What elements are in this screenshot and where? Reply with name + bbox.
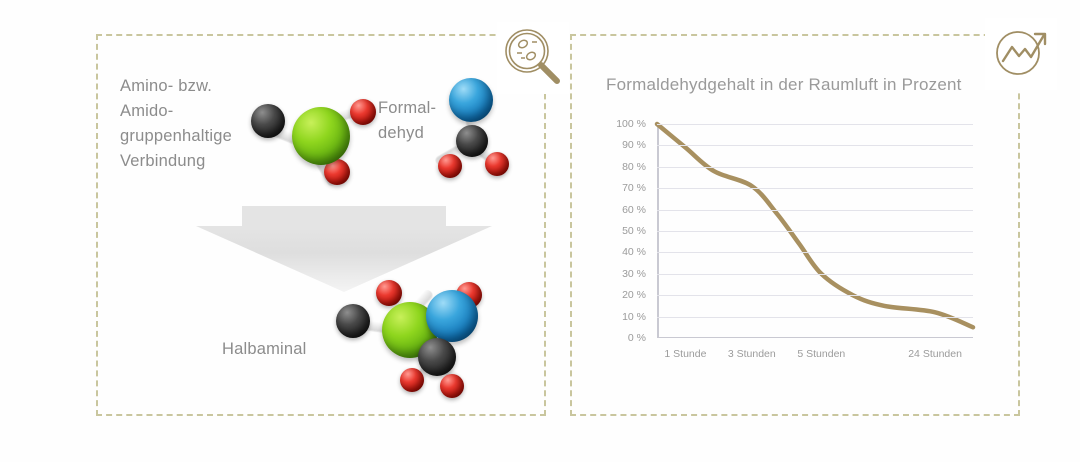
- gridline: [657, 317, 973, 318]
- magnifier-molecule-icon: [497, 22, 569, 94]
- y-axis-tick: 40 %: [602, 246, 646, 258]
- y-axis-tick: 100 %: [602, 118, 646, 130]
- gridline: [657, 231, 973, 232]
- line-chart: 100 %90 %80 %70 %60 %50 %40 %30 %20 %10 …: [598, 124, 998, 364]
- gridline: [657, 167, 973, 168]
- y-axis-tick: 0 %: [602, 332, 646, 344]
- y-axis-tick: 30 %: [602, 268, 646, 280]
- x-axis-tick: 24 Stunden: [908, 348, 962, 360]
- slide-canvas: Amino- bzw. Amido- gruppenhaltige Verbin…: [0, 0, 1080, 462]
- y-axis-tick: 20 %: [602, 289, 646, 301]
- chart-title: Formaldehydgehalt in der Raumluft in Pro…: [606, 75, 962, 95]
- gridline: [657, 252, 973, 253]
- gridline: [657, 188, 973, 189]
- halbaminal-molecule: [330, 276, 505, 401]
- gridline: [657, 124, 973, 125]
- y-axis-tick: 60 %: [602, 204, 646, 216]
- trend-up-circle-icon: [985, 18, 1057, 90]
- y-axis-labels: 100 %90 %80 %70 %60 %50 %40 %30 %20 %10 …: [598, 124, 646, 338]
- y-axis-tick: 50 %: [602, 225, 646, 237]
- gridline: [657, 145, 973, 146]
- x-axis-labels: 1 Stunde3 Stunden5 Stunden24 Stunden: [657, 348, 997, 368]
- gridline: [657, 210, 973, 211]
- y-axis-tick: 80 %: [602, 161, 646, 173]
- x-axis-tick: 5 Stunden: [797, 348, 845, 360]
- gridline: [657, 295, 973, 296]
- amino-compound-molecule: [240, 82, 370, 192]
- y-axis-tick: 90 %: [602, 139, 646, 151]
- gridline: [657, 274, 973, 275]
- x-axis-tick: 1 Stunde: [664, 348, 706, 360]
- y-axis-tick: 70 %: [602, 182, 646, 194]
- plot-area: [657, 124, 973, 338]
- y-axis-tick: 10 %: [602, 311, 646, 323]
- x-axis-tick: 3 Stunden: [728, 348, 776, 360]
